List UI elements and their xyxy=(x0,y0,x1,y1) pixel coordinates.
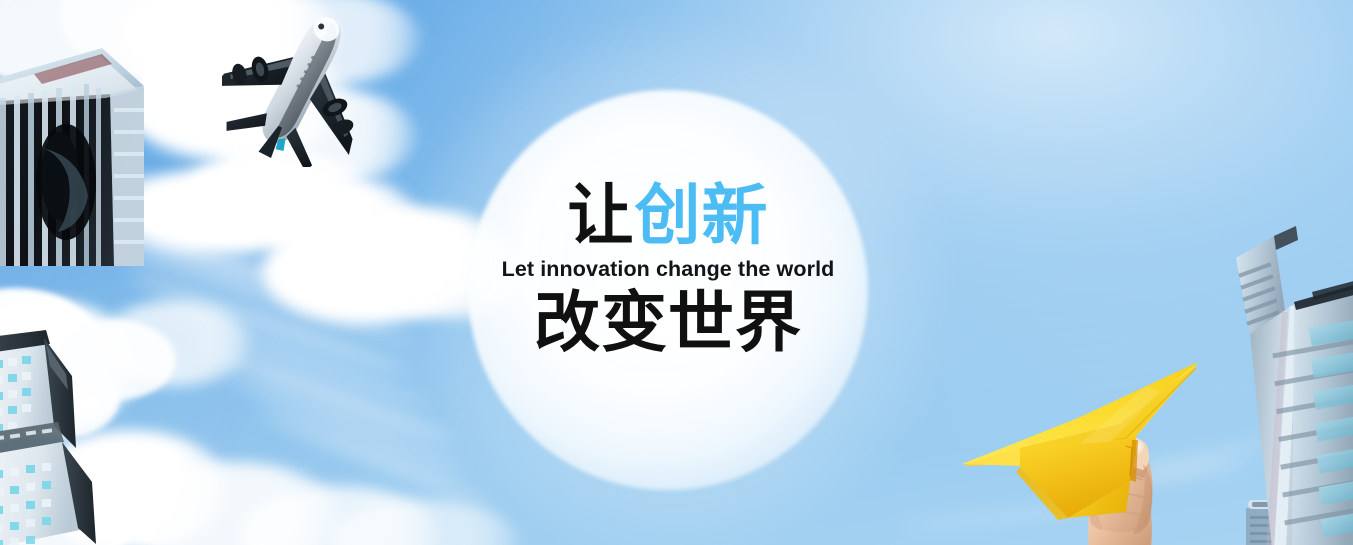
paper-plane-icon xyxy=(960,352,1235,545)
headline-line-1-accent: 创新 xyxy=(635,178,769,252)
hero-banner: 让创新 Let innovation change the world 改变世界 xyxy=(0,0,1353,545)
headline-line-2: 改变世界 xyxy=(468,285,868,359)
headline-line-1: 让创新 xyxy=(468,178,868,252)
apartment-towers-icon xyxy=(0,330,192,545)
finned-tower-icon xyxy=(0,36,144,266)
headline-block: 让创新 Let innovation change the world 改变世界 xyxy=(468,178,868,359)
headline-line-1-plain: 让 xyxy=(568,178,635,252)
glass-office-tower-icon xyxy=(1216,196,1353,545)
jet-airliner-icon xyxy=(222,2,382,167)
subtitle: Let innovation change the world xyxy=(468,254,868,284)
